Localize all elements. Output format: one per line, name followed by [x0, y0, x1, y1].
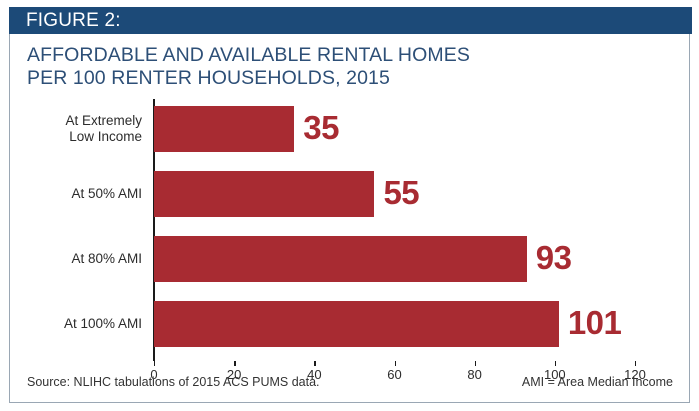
figure-number-label: FIGURE 2:: [26, 10, 121, 32]
category-label: At 100% AMI: [10, 297, 142, 351]
bar-chart-plot: At Extremely Low Income35At 50% AMI55At …: [10, 92, 691, 372]
figure-card: FIGURE 2: AFFORDABLE AND AVAILABLE RENTA…: [9, 7, 690, 403]
bar-row: At 50% AMI55: [10, 167, 691, 221]
figure-banner: FIGURE 2:: [9, 7, 692, 34]
bar: [154, 106, 294, 152]
bar-row: At 80% AMI93: [10, 232, 691, 286]
source-note: Source: NLIHC tabulations of 2015 ACS PU…: [27, 375, 320, 389]
bar: [154, 236, 527, 282]
bar-row: At Extremely Low Income35: [10, 102, 691, 156]
bar-value-label: 93: [536, 231, 572, 285]
figure-title: AFFORDABLE AND AVAILABLE RENTAL HOMES PE…: [27, 44, 470, 90]
category-label: At 50% AMI: [10, 167, 142, 221]
bar: [154, 301, 559, 347]
figure-footer: Source: NLIHC tabulations of 2015 ACS PU…: [10, 366, 691, 402]
bar-rows: At Extremely Low Income35At 50% AMI55At …: [10, 92, 691, 354]
bar-value-label: 101: [568, 296, 622, 350]
bar-value-label: 35: [303, 101, 339, 155]
ami-definition-note: AMI = Area Median Income: [522, 375, 673, 389]
bar-row: At 100% AMI101: [10, 297, 691, 351]
category-label: At 80% AMI: [10, 232, 142, 286]
category-label: At Extremely Low Income: [10, 102, 142, 156]
bar-value-label: 55: [383, 166, 419, 220]
bar: [154, 171, 374, 217]
